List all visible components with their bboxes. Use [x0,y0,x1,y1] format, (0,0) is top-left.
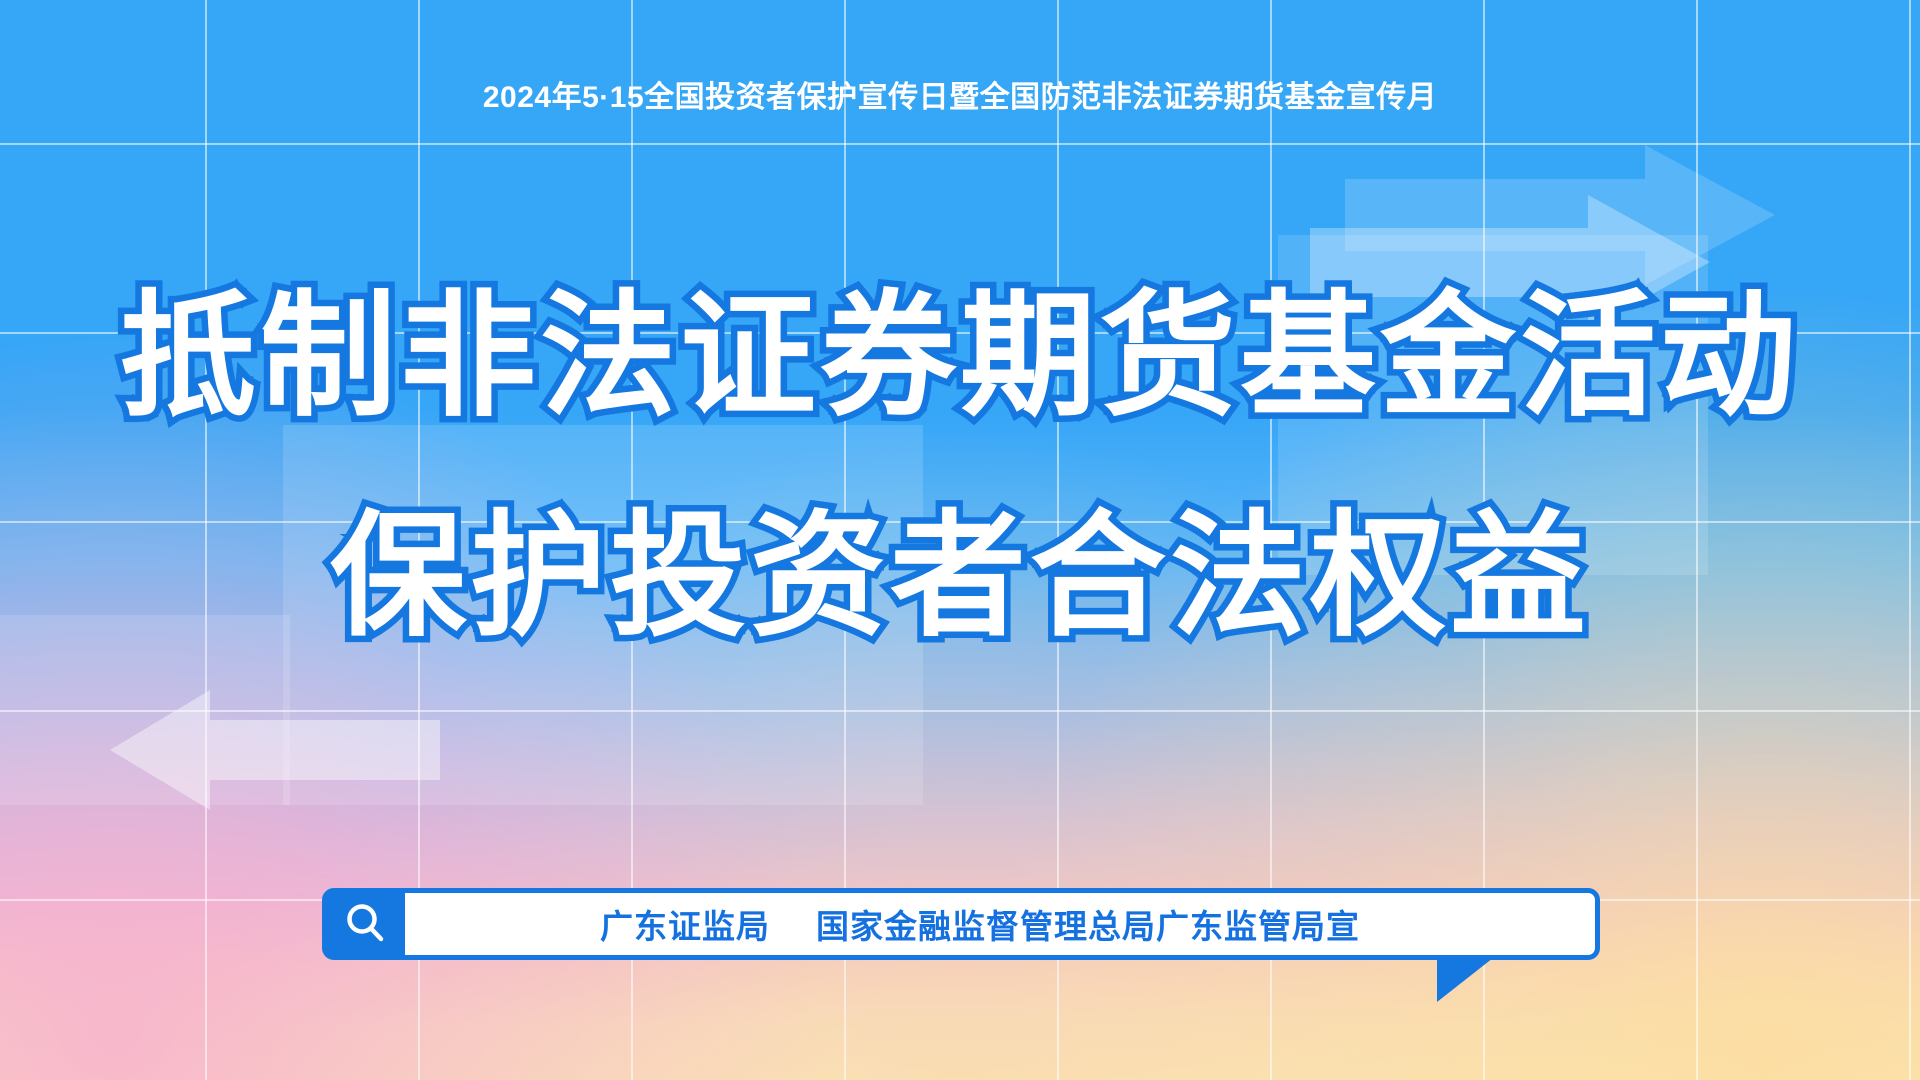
headline-line-1: 抵制非法证券期货基金活动 [0,288,1920,424]
search-icon [327,893,405,955]
footer-banner: 广东证监局国家金融监督管理总局广东监管局宣 [322,888,1600,960]
campaign-header-text: 2024年5·15全国投资者保护宣传日暨全国防范非法证券期货基金宣传月 [0,72,1920,116]
footer-organizations: 广东证监局国家金融监督管理总局广东监管局宣 [405,900,1595,948]
speech-bubble: 广东证监局国家金融监督管理总局广东监管局宣 [322,888,1600,960]
org-primary-label: 广东证监局 [600,908,770,945]
headline-line-2: 保护投资者合法权益 [0,508,1920,644]
poster-canvas: 2024年5·15全国投资者保护宣传日暨全国防范非法证券期货基金宣传月 抵制非法… [0,0,1920,1080]
speech-bubble-tail [1437,958,1493,1002]
org-secondary-label: 国家金融监督管理总局广东监管局宣 [816,908,1360,945]
